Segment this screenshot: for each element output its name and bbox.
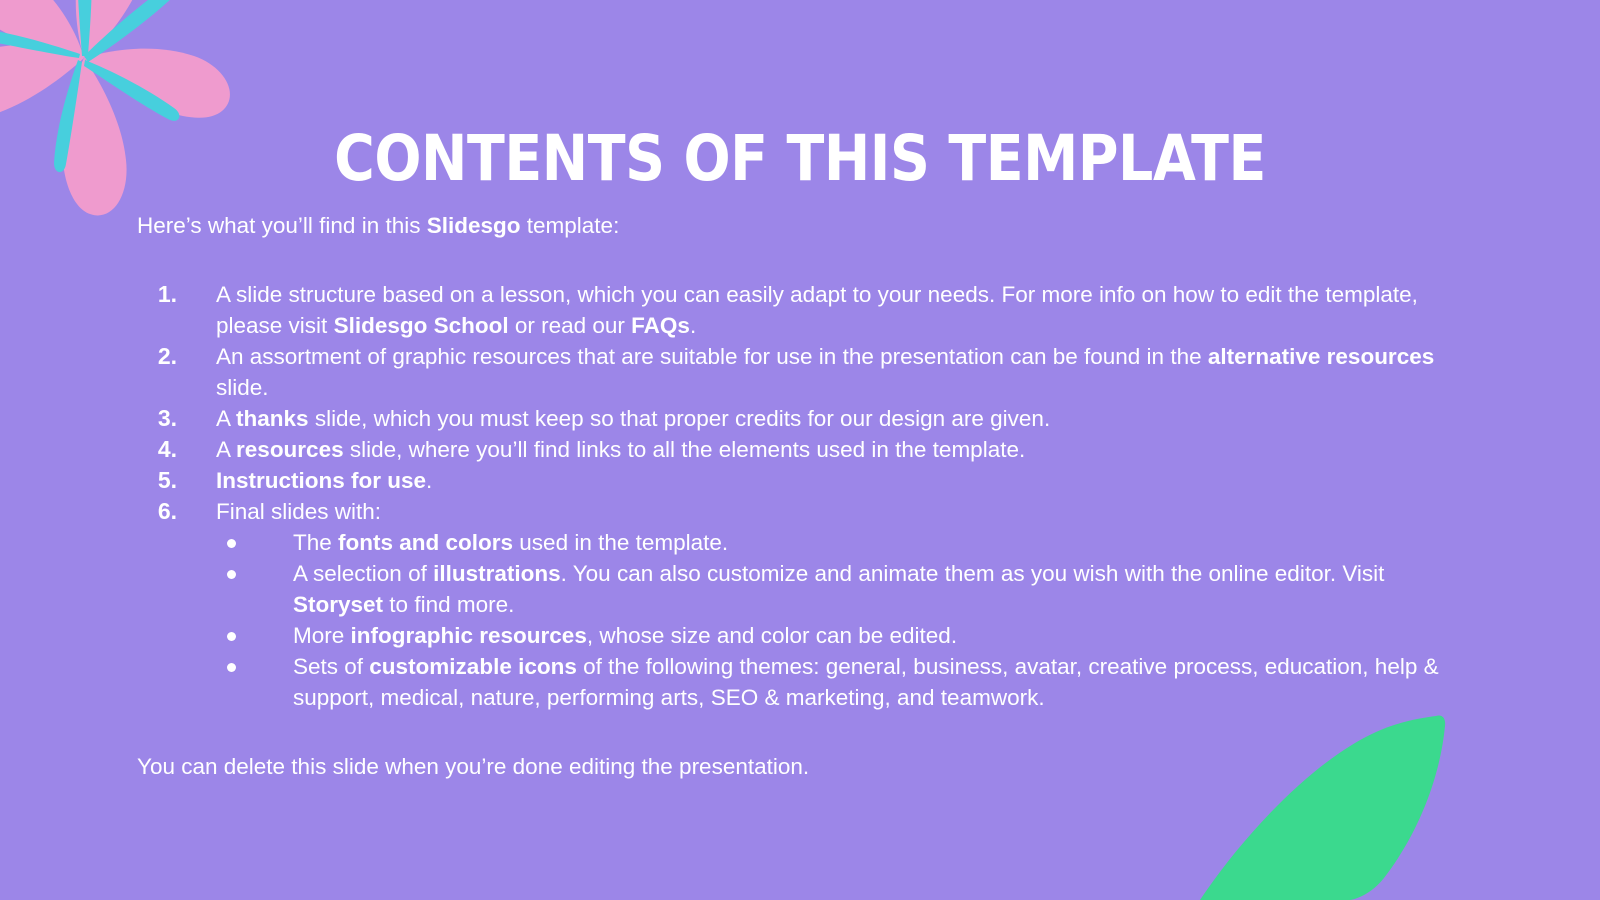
- sub-list-item-text: More infographic resources, whose size a…: [293, 623, 957, 648]
- lead-paragraph: Here’s what you’ll find in this Slidesgo…: [137, 210, 1467, 241]
- text-run: used in the template.: [513, 530, 728, 555]
- list-item-text: Instructions for use.: [216, 468, 432, 493]
- sub-list-item-text: Sets of customizable icons of the follow…: [293, 654, 1439, 710]
- text-run: Sets of: [293, 654, 369, 679]
- list-item-number: 6.: [137, 496, 177, 527]
- text-run-bold: thanks: [236, 406, 309, 431]
- bullet-icon: [227, 539, 236, 548]
- text-run-bold: Instructions for use: [216, 468, 426, 493]
- text-run: . You can also customize and animate the…: [561, 561, 1385, 586]
- text-run-bold: fonts and colors: [338, 530, 513, 555]
- contents-list-item: 3.A thanks slide, which you must keep so…: [137, 403, 1467, 434]
- list-item-number: 5.: [137, 465, 177, 496]
- list-item-number: 4.: [137, 434, 177, 465]
- text-run: slide, where you’ll find links to all th…: [344, 437, 1026, 462]
- lead-text-after: template:: [521, 213, 620, 238]
- text-run-bold: Slidesgo School: [334, 313, 509, 338]
- text-run: More: [293, 623, 351, 648]
- text-run-bold: Storyset: [293, 592, 383, 617]
- contents-list-item: 4.A resources slide, where you’ll find l…: [137, 434, 1467, 465]
- contents-ordered-list: 1.A slide structure based on a lesson, w…: [137, 279, 1467, 713]
- contents-sub-list-item: Sets of customizable icons of the follow…: [216, 651, 1467, 713]
- bullet-icon: [227, 632, 236, 641]
- list-item-number: 3.: [137, 403, 177, 434]
- text-run: A selection of: [293, 561, 433, 586]
- sub-list-item-text: A selection of illustrations. You can al…: [293, 561, 1384, 617]
- text-run: .: [690, 313, 696, 338]
- text-run-bold: FAQs: [631, 313, 690, 338]
- contents-sub-list-item: More infographic resources, whose size a…: [216, 620, 1467, 651]
- contents-sub-list-item: The fonts and colors used in the templat…: [216, 527, 1467, 558]
- text-run-bold: infographic resources: [351, 623, 587, 648]
- text-run: , whose size and color can be edited.: [587, 623, 957, 648]
- list-item-text: Final slides with:: [216, 499, 381, 524]
- list-item-number: 1.: [137, 279, 177, 310]
- contents-list-item: 1.A slide structure based on a lesson, w…: [137, 279, 1467, 341]
- lead-text-before: Here’s what you’ll find in this: [137, 213, 427, 238]
- page-title: CONTENTS OF THIS TEMPLATE: [96, 126, 1504, 192]
- contents-list-item: 6.Final slides with:The fonts and colors…: [137, 496, 1467, 713]
- text-run: to find more.: [383, 592, 514, 617]
- list-item-text: An assortment of graphic resources that …: [216, 344, 1434, 400]
- text-run-bold: resources: [236, 437, 344, 462]
- bullet-icon: [227, 570, 236, 579]
- contents-list-item: 2.An assortment of graphic resources tha…: [137, 341, 1467, 403]
- text-run: A: [216, 437, 236, 462]
- text-run: slide, which you must keep so that prope…: [309, 406, 1051, 431]
- slide-canvas: CONTENTS OF THIS TEMPLATE Here’s what yo…: [0, 0, 1600, 900]
- text-run: .: [426, 468, 432, 493]
- flower-decoration: [0, 0, 244, 228]
- text-run: A: [216, 406, 236, 431]
- lead-text-bold: Slidesgo: [427, 213, 521, 238]
- text-run-bold: alternative resources: [1208, 344, 1434, 369]
- contents-list-item: 5.Instructions for use.: [137, 465, 1467, 496]
- text-run: Final slides with:: [216, 499, 381, 524]
- text-run-bold: customizable icons: [369, 654, 577, 679]
- list-item-text: A thanks slide, which you must keep so t…: [216, 406, 1050, 431]
- outro-paragraph: You can delete this slide when you’re do…: [137, 751, 1467, 782]
- list-item-number: 2.: [137, 341, 177, 372]
- text-run: slide.: [216, 375, 269, 400]
- bullet-icon: [227, 663, 236, 672]
- text-run-bold: illustrations: [433, 561, 561, 586]
- text-run: or read our: [509, 313, 632, 338]
- contents-sub-list: The fonts and colors used in the templat…: [216, 527, 1467, 713]
- list-item-text: A slide structure based on a lesson, whi…: [216, 282, 1418, 338]
- text-run: An assortment of graphic resources that …: [216, 344, 1208, 369]
- slide-body: Here’s what you’ll find in this Slidesgo…: [137, 210, 1467, 782]
- text-run: The: [293, 530, 338, 555]
- list-item-text: A resources slide, where you’ll find lin…: [216, 437, 1025, 462]
- sub-list-item-text: The fonts and colors used in the templat…: [293, 530, 728, 555]
- contents-sub-list-item: A selection of illustrations. You can al…: [216, 558, 1467, 620]
